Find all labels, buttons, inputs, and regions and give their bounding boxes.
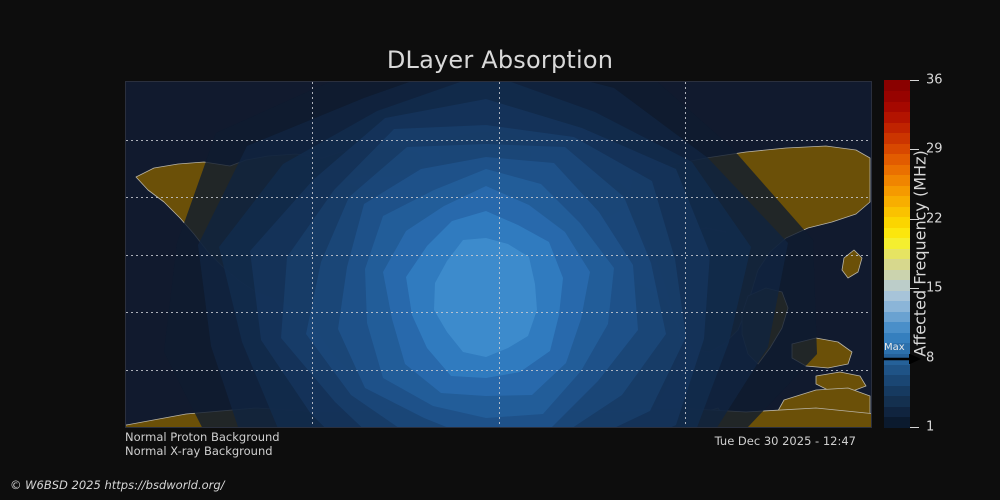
dlayer-absorption-figure: DLayer Absorption (0, 0, 1000, 500)
page-title: DLayer Absorption (0, 46, 1000, 74)
xray-background-note: Normal X-ray Background (125, 444, 273, 458)
colorbar-axis-label-text: Affected Frequency (MHz) (911, 150, 930, 356)
proton-background-note: Normal Proton Background (125, 430, 280, 444)
colorbar-axis-label: Affected Frequency (MHz) (906, 80, 934, 427)
map-canvas (126, 82, 871, 427)
world-map[interactable] (125, 81, 872, 428)
map-graphics (126, 82, 871, 427)
timestamp: Tue Dec 30 2025 - 12:47 (715, 434, 856, 448)
max-label: Max (884, 343, 905, 353)
colorbar-tick (910, 427, 919, 428)
copyright-notice: © W6BSD 2025 https://bsdworld.org/ (10, 478, 225, 492)
